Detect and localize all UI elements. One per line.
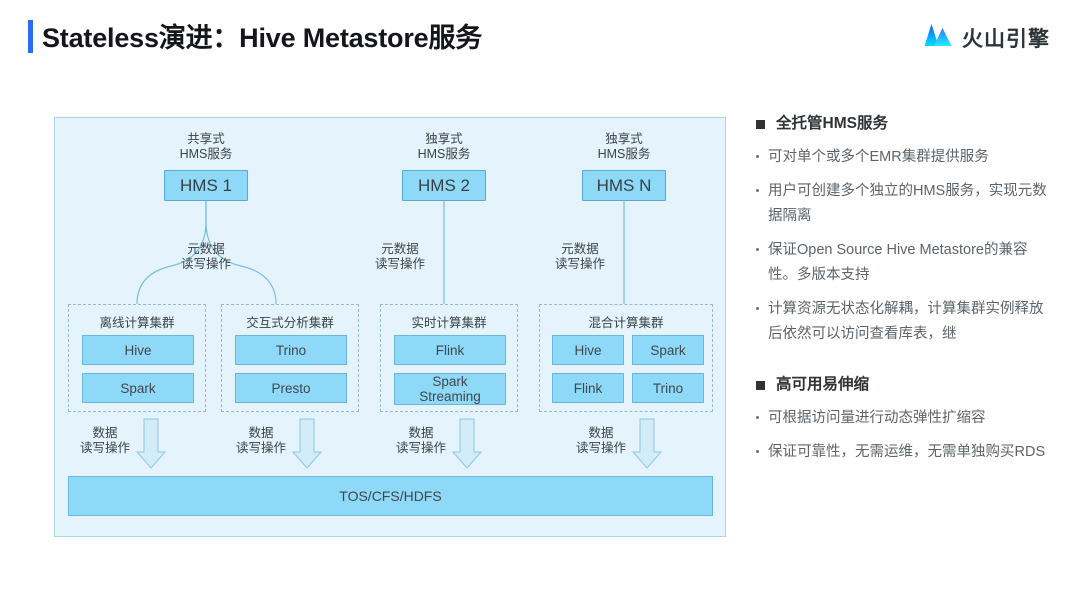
section-divider — [756, 356, 1056, 375]
bullet-item: 计算资源无状态化解耦，计算集群实例释放后依然可以访问查看库表，继 — [756, 297, 1056, 347]
dot-bullet-icon — [756, 189, 759, 192]
engine-box[interactable]: Flink — [394, 335, 506, 365]
cluster-offline-compute: 离线计算集群 Hive Spark — [68, 304, 206, 412]
cluster-interactive-analysis: 交互式分析集群 Trino Presto — [221, 304, 359, 412]
cluster-realtime-compute: 实时计算集群 Flink Spark Streaming — [380, 304, 518, 412]
data-label-4: 数据 读写操作 — [571, 426, 631, 456]
bullet-item: 可对单个或多个EMR集群提供服务 — [756, 145, 1056, 170]
feature-text-panel: 全托管HMS服务 可对单个或多个EMR集群提供服务 用户可创建多个独立的HMS服… — [756, 114, 1056, 474]
dot-bullet-icon — [756, 416, 759, 419]
bullet-item: 保证可靠性，无需运维，无需单独购买RDS — [756, 440, 1056, 465]
title-accent-bar — [28, 20, 33, 53]
data-label-2: 数据 读写操作 — [231, 426, 291, 456]
engine-box[interactable]: Trino — [235, 335, 347, 365]
engine-box[interactable]: Spark — [632, 335, 704, 365]
cluster-title: 交互式分析集群 — [222, 312, 358, 331]
square-bullet-icon — [756, 381, 765, 390]
metadata-label-1: 元数据 读写操作 — [166, 242, 246, 272]
engine-box[interactable]: Spark — [82, 373, 194, 403]
page-header: Stateless演进：Hive Metastore服务 火山引擎 — [0, 0, 1080, 78]
data-label-3: 数据 读写操作 — [391, 426, 451, 456]
cluster-title: 离线计算集群 — [69, 312, 205, 331]
metadata-label-2: 元数据 读写操作 — [360, 242, 440, 272]
hms-caption-3: 独享式 HMS服务 — [574, 132, 674, 162]
bullet-item: 可根据访问量进行动态弹性扩缩容 — [756, 406, 1056, 431]
hms-box-3[interactable]: HMS N — [582, 170, 666, 201]
engine-box[interactable]: Trino — [632, 373, 704, 403]
volcano-mountain-icon — [923, 22, 953, 53]
dot-bullet-icon — [756, 450, 759, 453]
hms-box-2[interactable]: HMS 2 — [402, 170, 486, 201]
engine-box[interactable]: Spark Streaming — [394, 373, 506, 405]
cluster-hybrid-compute: 混合计算集群 Hive Spark Flink Trino — [539, 304, 713, 412]
cluster-title: 混合计算集群 — [540, 312, 712, 331]
cluster-title: 实时计算集群 — [381, 312, 517, 331]
architecture-diagram: 共享式 HMS服务 独享式 HMS服务 独享式 HMS服务 HMS 1 HMS … — [54, 117, 726, 537]
engine-box[interactable]: Hive — [552, 335, 624, 365]
section-heading-managed-hms: 全托管HMS服务 — [756, 114, 1056, 134]
data-label-1: 数据 读写操作 — [75, 426, 135, 456]
hms-caption-2: 独享式 HMS服务 — [394, 132, 494, 162]
engine-box[interactable]: Flink — [552, 373, 624, 403]
square-bullet-icon — [756, 120, 765, 129]
bullet-item: 保证Open Source Hive Metastore的兼容性。多版本支持 — [756, 238, 1056, 288]
dot-bullet-icon — [756, 155, 759, 158]
dot-bullet-icon — [756, 248, 759, 251]
bullet-item: 用户可创建多个独立的HMS服务，实现元数据隔离 — [756, 179, 1056, 229]
section-heading-ha-scalable: 高可用易伸缩 — [756, 375, 1056, 395]
page-title: Stateless演进：Hive Metastore服务 — [42, 16, 482, 55]
engine-box[interactable]: Presto — [235, 373, 347, 403]
storage-layer-bar[interactable]: TOS/CFS/HDFS — [68, 476, 713, 516]
metadata-label-3: 元数据 读写操作 — [540, 242, 620, 272]
brand-name: 火山引擎 — [962, 23, 1050, 53]
dot-bullet-icon — [756, 307, 759, 310]
hms-box-1[interactable]: HMS 1 — [164, 170, 248, 201]
hms-caption-1: 共享式 HMS服务 — [156, 132, 256, 162]
engine-box[interactable]: Hive — [82, 335, 194, 365]
brand-logo: 火山引擎 — [923, 22, 1050, 53]
